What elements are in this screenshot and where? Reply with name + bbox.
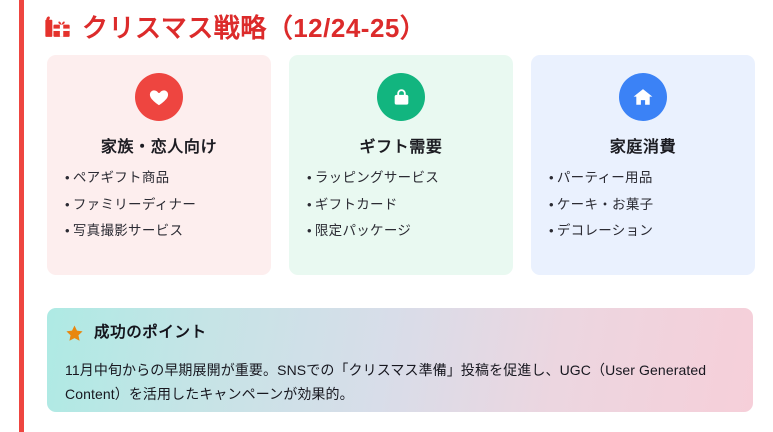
card-title: 家族・恋人向け <box>101 138 217 157</box>
list-item-label: デコレーション <box>557 224 653 238</box>
shopping-bag-icon <box>377 73 425 121</box>
success-points-title: 成功のポイント <box>94 325 207 341</box>
success-points-body: 11月中旬からの早期展開が重要。SNSでの「クリスマス準備」投稿を促進し、UGC… <box>65 358 735 406</box>
list-item: •ケーキ・お菓子 <box>549 198 741 212</box>
list-item: •限定パッケージ <box>307 224 499 238</box>
home-icon <box>619 73 667 121</box>
strategy-cards: 家族・恋人向け •ペアギフト商品 •ファミリーディナー •写真撮影サービス ギフ… <box>47 55 755 275</box>
section-header: クリスマス戦略（12/24-25） <box>44 8 426 48</box>
bullet-glyph: • <box>549 171 554 184</box>
success-points-header: 成功のポイント <box>65 322 735 344</box>
list-item-label: パーティー用品 <box>557 171 653 185</box>
strategy-card-family[interactable]: 家族・恋人向け •ペアギフト商品 •ファミリーディナー •写真撮影サービス <box>47 55 271 275</box>
heart-icon <box>135 73 183 121</box>
list-item: •写真撮影サービス <box>65 224 257 238</box>
list-item: •ラッピングサービス <box>307 171 499 185</box>
list-item: •ギフトカード <box>307 198 499 212</box>
success-points-panel: 成功のポイント 11月中旬からの早期展開が重要。SNSでの「クリスマス準備」投稿… <box>47 308 753 412</box>
bullet-glyph: • <box>307 224 312 237</box>
bullet-glyph: • <box>65 198 70 211</box>
list-item-label: 写真撮影サービス <box>73 224 183 238</box>
bullet-glyph: • <box>65 171 70 184</box>
card-item-list: •ペアギフト商品 •ファミリーディナー •写真撮影サービス <box>61 171 257 251</box>
strategy-card-gift-demand[interactable]: ギフト需要 •ラッピングサービス •ギフトカード •限定パッケージ <box>289 55 513 275</box>
bullet-glyph: • <box>65 224 70 237</box>
gift-icon <box>44 15 71 42</box>
list-item-label: ファミリーディナー <box>73 198 196 212</box>
page-title: クリスマス戦略（12/24-25） <box>82 15 426 41</box>
bullet-glyph: • <box>307 198 312 211</box>
strategy-card-household[interactable]: 家庭消費 •パーティー用品 •ケーキ・お菓子 •デコレーション <box>531 55 755 275</box>
list-item: •デコレーション <box>549 224 741 238</box>
list-item-label: 限定パッケージ <box>315 224 411 238</box>
bullet-glyph: • <box>549 198 554 211</box>
list-item-label: ペアギフト商品 <box>73 171 170 185</box>
list-item-label: ギフトカード <box>315 198 398 212</box>
star-icon <box>65 324 84 343</box>
card-item-list: •ラッピングサービス •ギフトカード •限定パッケージ <box>303 171 499 251</box>
bullet-glyph: • <box>307 171 312 184</box>
bullet-glyph: • <box>549 224 554 237</box>
card-title: 家庭消費 <box>610 138 676 157</box>
list-item-label: ラッピングサービス <box>315 171 439 185</box>
left-accent-bar <box>19 0 24 432</box>
list-item: •ファミリーディナー <box>65 198 257 212</box>
card-title: ギフト需要 <box>359 138 442 157</box>
list-item: •パーティー用品 <box>549 171 741 185</box>
list-item-label: ケーキ・お菓子 <box>557 198 654 212</box>
christmas-strategy-panel: クリスマス戦略（12/24-25） 家族・恋人向け •ペアギフト商品 •ファミリ… <box>0 0 773 432</box>
list-item: •ペアギフト商品 <box>65 171 257 185</box>
card-item-list: •パーティー用品 •ケーキ・お菓子 •デコレーション <box>545 171 741 251</box>
